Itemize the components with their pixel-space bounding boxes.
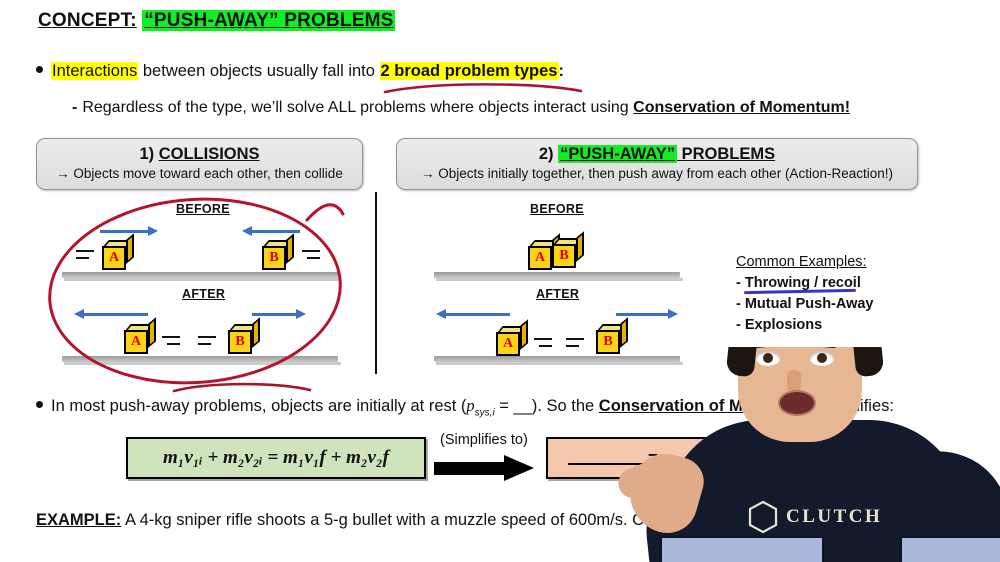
- bullet2-subscript: sys,i: [475, 407, 495, 418]
- presenter-mouth: [778, 390, 816, 416]
- momentum-equation: m₁v₁ᵢ + m₂v₂ᵢ = m₁v₁f + m₂v₂f: [163, 447, 389, 469]
- simplifies-arrow-icon: [434, 455, 534, 481]
- bottom-panel-left: [660, 536, 824, 562]
- bullet2-dot-icon: [36, 401, 43, 408]
- sub-bullet-conservation: -Regardless of the type, we’ll solve ALL…: [72, 99, 850, 117]
- right-after-block-a: A: [496, 326, 526, 356]
- clutch-logo: CLUTCH: [748, 500, 882, 534]
- bullet2-symbol: p: [466, 396, 474, 415]
- bullet1-mid: between objects usually fall into: [138, 62, 379, 80]
- examples-header: Common Examples:: [736, 252, 874, 273]
- left-after-block-b-label: B: [228, 330, 252, 354]
- right-after-ticks-a: [532, 336, 552, 350]
- lecture-slide: CONCEPT: “PUSH-AWAY” PROBLEMS Interactio…: [0, 0, 1000, 562]
- red-circle-tail-annotation: [305, 200, 345, 226]
- right-after-block-a-label: A: [496, 332, 520, 356]
- panel-left-title: 1) COLLISIONS: [37, 144, 362, 164]
- bullet1-highlight: Interactions: [51, 62, 138, 80]
- page-title: CONCEPT: “PUSH-AWAY” PROBLEMS: [38, 10, 395, 32]
- left-after-block-a-label: A: [124, 330, 148, 354]
- right-before-block-a-label: A: [528, 246, 552, 270]
- example-problem-line: EXAMPLE: A 4-kg sniper rifle shoots a 5-…: [36, 511, 701, 530]
- right-after-block-b-label: B: [596, 330, 620, 354]
- common-examples-list: Common Examples: - Throwing / recoil - M…: [736, 252, 874, 336]
- right-after-arrow-b: [616, 309, 678, 319]
- bullet2-mid: = __). So the: [495, 397, 599, 415]
- panel-divider: [375, 192, 377, 374]
- bullet2-pre: In most push-away problems, objects are …: [51, 397, 466, 415]
- clutch-brand-text: CLUTCH: [786, 506, 882, 528]
- bullet1-emphasis: 2 broad problem types: [380, 62, 559, 80]
- red-underline-annotation: [383, 80, 583, 94]
- red-curve-annotation-2: [172, 381, 312, 393]
- example-item-mutual: - Mutual Push-Away: [736, 294, 874, 315]
- hexagon-icon: [748, 500, 778, 534]
- presenter-eye-right: [810, 351, 834, 366]
- presenter-video-overlay: CLUTCH: [610, 347, 1000, 562]
- panel-left-name: COLLISIONS: [159, 145, 260, 163]
- presenter-eye-left: [756, 351, 780, 366]
- panel-right-number: 2): [539, 145, 554, 163]
- panel-left-number: 1): [139, 145, 154, 163]
- panel-right-title: 2) “PUSH-AWAY” PROBLEMS: [397, 144, 917, 164]
- panel-right-description: → Objects initially together, then push …: [397, 165, 917, 183]
- bullet1-tail: :: [559, 62, 565, 80]
- right-before-ground: [434, 272, 680, 278]
- left-before-block-b-label: B: [262, 246, 286, 270]
- panel-left-description: → Objects move toward each other, then c…: [37, 165, 362, 183]
- right-before-block-b-label: B: [552, 244, 576, 268]
- momentum-equation-box: m₁v₁ᵢ + m₂v₂ᵢ = m₁v₁f + m₂v₂f: [126, 437, 426, 479]
- presenter-nose: [787, 370, 801, 392]
- simplifies-label: (Simplifies to): [440, 432, 528, 448]
- right-after-ticks-b: [566, 336, 586, 350]
- panel-right-name-rest: PROBLEMS: [677, 145, 775, 163]
- right-after-caption: AFTER: [536, 287, 579, 301]
- left-before-block-a-label: A: [102, 246, 126, 270]
- title-label: CONCEPT:: [38, 10, 137, 31]
- bullet-dot-icon: [36, 66, 43, 73]
- sub-bullet-text: Regardless of the type, we’ll solve ALL …: [82, 99, 633, 116]
- bullet-interactions: Interactions between objects usually fal…: [36, 62, 564, 81]
- example-item-explosions: - Explosions: [736, 315, 874, 336]
- right-after-arrow-a: [436, 309, 510, 319]
- panel-right-name-highlight: “PUSH-AWAY”: [558, 145, 677, 163]
- title-value: “PUSH-AWAY” PROBLEMS: [142, 10, 395, 31]
- example-label: EXAMPLE:: [36, 511, 121, 529]
- panel-header-collisions: 1) COLLISIONS → Objects move toward each…: [36, 138, 363, 190]
- sub-bullet-dash: -: [72, 99, 77, 116]
- right-before-caption: BEFORE: [530, 202, 584, 216]
- bottom-panel-right: [900, 536, 1000, 562]
- right-before-block-b: B: [552, 238, 582, 268]
- sub-bullet-bold: Conservation of Momentum!: [633, 99, 850, 116]
- panel-header-pushaway: 2) “PUSH-AWAY” PROBLEMS → Objects initia…: [396, 138, 918, 190]
